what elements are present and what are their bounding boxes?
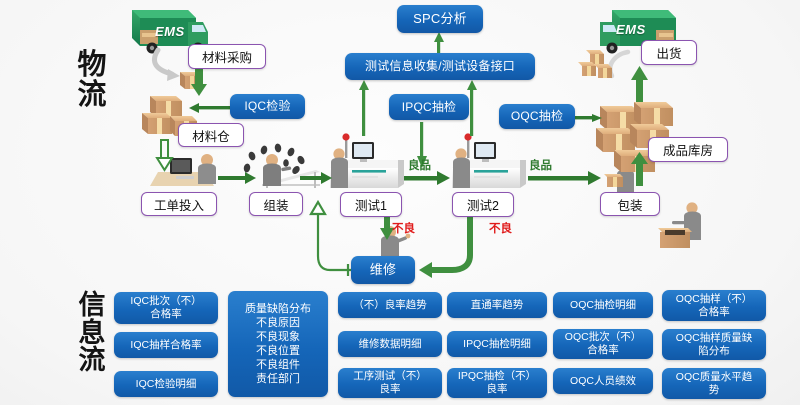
caption-good-1: 良品 xyxy=(408,157,431,173)
process-label-packaging[interactable]: 包装 xyxy=(600,192,660,216)
system-box-repair[interactable]: 维修 xyxy=(351,256,415,284)
info-box-oqc-sample-rate[interactable]: OQC抽样（不） 合格率 xyxy=(662,290,766,321)
diagram-canvas: 物 流 信 息 流 xyxy=(0,0,800,405)
info-box-repair-data-detail[interactable]: 维修数据明细 xyxy=(338,331,442,357)
outbound-cartons-icon xyxy=(578,50,612,78)
information-heading: 信 息 流 xyxy=(62,292,122,375)
process-label-material-purchase[interactable]: 材料采购 xyxy=(188,44,266,69)
arrow-warehouse-to-shipment xyxy=(631,66,648,102)
process-label-material-warehouse[interactable]: 材料仓 xyxy=(178,123,244,147)
info-box-oqc-lot-rate[interactable]: OQC批次（不） 合格率 xyxy=(553,329,653,359)
arrow-warehouse-to-workorder xyxy=(157,140,172,170)
info-box-fpy-trend[interactable]: 直通率趋势 xyxy=(447,292,547,318)
test-station-1-icon xyxy=(330,133,404,188)
arrow-test2-to-packaging xyxy=(528,171,601,185)
info-box-yield-trend[interactable]: （不）良率趋势 xyxy=(338,292,442,318)
process-label-work-order[interactable]: 工单投入 xyxy=(141,192,217,216)
test-station-2-icon xyxy=(452,133,526,188)
info-box-quality-defect-distribution[interactable]: 质量缺陷分布 不良原因 不良现象 不良位置 不良组件 责任部门 xyxy=(228,291,328,397)
truck-outbound-badge: EMS xyxy=(616,22,646,37)
info-box-oqc-quality-trend[interactable]: OQC质量水平趋 势 xyxy=(662,368,766,399)
info-box-iqc-lot-rate[interactable]: IQC批次（不） 合格率 xyxy=(114,292,218,324)
info-box-oqc-staff-performance[interactable]: OQC人员绩效 xyxy=(553,368,653,394)
information-heading-char-3: 流 xyxy=(62,347,122,375)
process-label-test1[interactable]: 测试1 xyxy=(340,192,402,217)
info-box-process-test-yield[interactable]: 工序测试（不） 良率 xyxy=(338,368,442,398)
truck-inbound-badge: EMS xyxy=(155,24,185,39)
process-label-test2[interactable]: 测试2 xyxy=(452,192,514,217)
info-box-ipqc-detail[interactable]: IPQC抽检明细 xyxy=(447,331,547,357)
process-label-shipment[interactable]: 出货 xyxy=(641,40,697,65)
arrow-test1-to-testinfo xyxy=(359,80,369,136)
system-box-test-info[interactable]: 测试信息收集/测试设备接口 xyxy=(345,53,535,80)
info-box-oqc-sample-defect[interactable]: OQC抽样质量缺 陷分布 xyxy=(662,329,766,360)
system-box-spc[interactable]: SPC分析 xyxy=(397,5,483,33)
info-box-iqc-detail[interactable]: IQC检验明细 xyxy=(114,371,218,397)
process-label-finished-warehouse[interactable]: 成品库房 xyxy=(648,137,728,162)
arrow-oqc-to-warehouse xyxy=(572,114,602,122)
information-heading-char-2: 息 xyxy=(62,320,122,348)
arrow-test1-to-test2 xyxy=(404,171,450,185)
info-box-iqc-sample-rate[interactable]: IQC抽样合格率 xyxy=(114,332,218,358)
info-box-oqc-detail[interactable]: OQC抽检明细 xyxy=(553,292,653,318)
system-box-iqc[interactable]: IQC检验 xyxy=(230,94,305,119)
process-label-assembly[interactable]: 组装 xyxy=(249,192,303,216)
arrow-workorder-to-assembly xyxy=(218,172,256,184)
assembly-station-icon xyxy=(243,143,320,188)
caption-bad-2: 不良 xyxy=(489,220,512,236)
system-box-oqc[interactable]: OQC抽检 xyxy=(499,104,575,129)
info-box-ipqc-yield[interactable]: IPQC抽检（不） 良率 xyxy=(447,368,547,398)
far-right-packer-icon xyxy=(658,202,701,248)
caption-bad-1: 不良 xyxy=(392,220,415,236)
arrow-iqc-to-warehouse xyxy=(189,103,230,113)
system-box-ipqc[interactable]: IPQC抽检 xyxy=(389,94,469,120)
caption-good-2: 良品 xyxy=(529,157,552,173)
